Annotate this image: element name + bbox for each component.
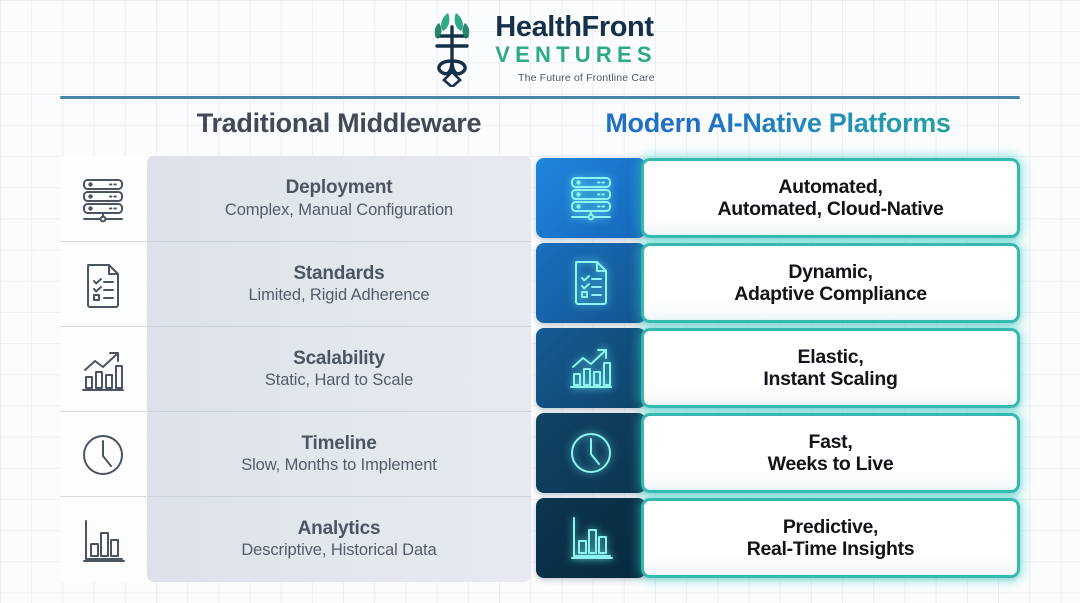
modern-subtitle: Instant Scaling xyxy=(763,368,897,391)
modern-title: Dynamic, xyxy=(788,261,872,283)
traditional-card: Standards Limited, Rigid Adherence xyxy=(147,241,531,327)
modern-icon-tile xyxy=(536,328,646,408)
brand-tagline: The Future of Frontline Care xyxy=(518,72,657,84)
modern-title: Fast, xyxy=(808,431,852,453)
modern-icon-tile xyxy=(536,498,646,578)
modern-card: Dynamic, Adaptive Compliance xyxy=(641,243,1020,323)
brand-subname: VENTURES xyxy=(495,43,656,68)
clock-icon xyxy=(60,411,146,497)
header-divider xyxy=(60,96,1020,99)
comparison-grid: Deployment Complex, Manual Configuration… xyxy=(0,156,1080,586)
traditional-card: Scalability Static, Hard to Scale xyxy=(147,326,531,412)
modern-subtitle: Adaptive Compliance xyxy=(734,283,927,306)
brand-wordmark: HealthFront VENTURES The Future of Front… xyxy=(495,12,656,84)
document-checklist-icon xyxy=(60,241,146,327)
traditional-subtitle: Slow, Months to Implement xyxy=(241,456,437,476)
heading-modern-ai: Modern AI-Native Platforms xyxy=(536,108,1020,139)
modern-icon-tile xyxy=(536,158,646,238)
modern-card: Fast, Weeks to Live xyxy=(641,413,1020,493)
comparison-row: Timeline Slow, Months to Implement Fast,… xyxy=(0,411,1080,497)
modern-title: Elastic, xyxy=(798,346,864,368)
brand-name: HealthFront xyxy=(495,12,653,42)
traditional-title: Timeline xyxy=(301,433,376,455)
comparison-row: Analytics Descriptive, Historical Data P… xyxy=(0,496,1080,582)
server-stack-icon xyxy=(60,156,146,242)
brand-logo: HealthFront VENTURES The Future of Front… xyxy=(0,4,1080,92)
traditional-title: Scalability xyxy=(293,348,385,370)
traditional-subtitle: Complex, Manual Configuration xyxy=(225,201,453,221)
modern-subtitle: Automated, Cloud-Native xyxy=(717,198,943,221)
growth-chart-icon xyxy=(60,326,146,412)
modern-card: Predictive, Real-Time Insights xyxy=(641,498,1020,578)
modern-card: Elastic, Instant Scaling xyxy=(641,328,1020,408)
traditional-card: Analytics Descriptive, Historical Data xyxy=(147,496,531,582)
modern-subtitle: Real-Time Insights xyxy=(747,538,915,561)
modern-icon-tile xyxy=(536,243,646,323)
modern-icon-tile xyxy=(536,413,646,493)
modern-card: Automated, Automated, Cloud-Native xyxy=(641,158,1020,238)
traditional-title: Standards xyxy=(293,263,384,285)
comparison-row: Scalability Static, Hard to Scale Elasti… xyxy=(0,326,1080,412)
comparison-row: Standards Limited, Rigid Adherence Dynam… xyxy=(0,241,1080,327)
traditional-subtitle: Limited, Rigid Adherence xyxy=(248,286,429,306)
bar-chart-icon xyxy=(60,496,146,582)
traditional-title: Deployment xyxy=(286,177,393,199)
traditional-card: Deployment Complex, Manual Configuration xyxy=(147,156,531,242)
caduceus-plant-logo-icon xyxy=(423,9,481,87)
comparison-row: Deployment Complex, Manual Configuration… xyxy=(0,156,1080,242)
traditional-subtitle: Static, Hard to Scale xyxy=(265,371,413,391)
column-headings: Traditional Middleware Modern AI-Native … xyxy=(0,108,1080,154)
traditional-subtitle: Descriptive, Historical Data xyxy=(241,541,436,561)
heading-traditional: Traditional Middleware xyxy=(147,108,531,139)
modern-subtitle: Weeks to Live xyxy=(768,453,894,476)
traditional-card: Timeline Slow, Months to Implement xyxy=(147,411,531,497)
modern-title: Predictive, xyxy=(783,516,878,538)
traditional-title: Analytics xyxy=(298,518,381,540)
modern-title: Automated, xyxy=(778,176,882,198)
